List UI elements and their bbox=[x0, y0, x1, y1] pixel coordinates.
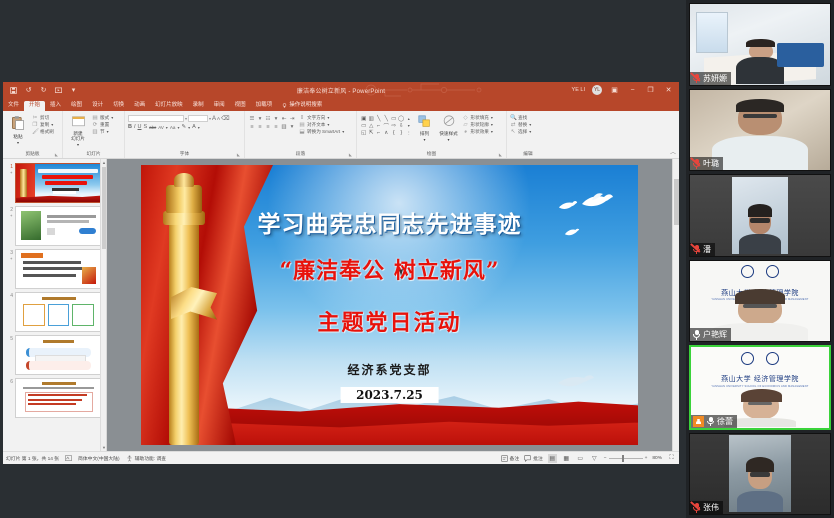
ribbon-display-options-icon[interactable]: ▣ bbox=[609, 87, 620, 94]
thumb-number-5: 5 bbox=[10, 336, 13, 342]
ribbon-group-drawing: ▣▥╲╲▭◯▴ ▭△⌐⌒⇨⇩▾ ◱⇱⌐∧{}⋮ 排列 ▾ bbox=[357, 111, 507, 158]
canvas-scroll-thumb[interactable] bbox=[674, 179, 679, 225]
ribbon-group-clipboard: 粘贴 ▾ ✂剪切 ❐复制▾ 🖌格式刷 剪贴板◣ bbox=[3, 111, 63, 158]
text-shadow-button[interactable]: S bbox=[144, 124, 148, 131]
thumb-preview-5[interactable] bbox=[15, 335, 102, 375]
increase-indent-button[interactable]: ⇥ bbox=[288, 115, 296, 122]
thumb-number-6: 6 bbox=[10, 379, 13, 385]
university-seal-icon-1 bbox=[741, 265, 754, 278]
animation-star-icon: ✦ bbox=[10, 170, 13, 176]
slide-counter: 幻灯片 第 1 张，共 14 张 bbox=[6, 455, 59, 462]
shape-outline-label: 形状轮廓 bbox=[471, 122, 489, 128]
thumb-preview-4[interactable] bbox=[15, 292, 102, 332]
participant-video-rail[interactable]: 苏妍嫄 叶璐 潘 bbox=[686, 0, 834, 518]
paste-icon bbox=[10, 115, 26, 133]
minimize-button[interactable]: − bbox=[627, 87, 638, 94]
tell-me-box[interactable]: 操作说明搜索 bbox=[277, 101, 327, 111]
notes-button[interactable]: 备注 bbox=[501, 455, 520, 462]
drawing-group-label: 绘图◣ bbox=[360, 151, 503, 158]
align-center-button[interactable]: ≡ bbox=[256, 123, 264, 130]
numbering-dropdown-icon[interactable]: ▾ bbox=[272, 115, 280, 122]
cut-button[interactable]: ✂剪切 bbox=[32, 115, 54, 121]
text-direction-icon: ⇕ bbox=[299, 115, 305, 121]
clear-formatting-button[interactable]: ⌫ bbox=[221, 115, 229, 122]
layout-icon: ▤ bbox=[92, 115, 98, 121]
editing-group-label: 编辑 bbox=[510, 151, 546, 158]
slide-date: 2023.7.25 bbox=[356, 388, 423, 402]
spellcheck-icon[interactable] bbox=[65, 455, 72, 462]
slide-thumbnail-2[interactable]: 2✦ bbox=[3, 206, 106, 249]
start-slideshow-icon[interactable] bbox=[54, 86, 63, 95]
italic-button[interactable]: I bbox=[134, 124, 136, 131]
participant-name-bar-4: 户艳辉 bbox=[690, 328, 731, 341]
align-text-label: 对齐文本 bbox=[307, 122, 325, 128]
ribbon-body: 粘贴 ▾ ✂剪切 ❐复制▾ 🖌格式刷 剪贴板◣ bbox=[3, 111, 679, 159]
font-color-button[interactable]: A bbox=[192, 124, 196, 131]
view-normal-button[interactable]: ▤ bbox=[548, 454, 557, 463]
restore-button[interactable]: ❐ bbox=[645, 87, 656, 94]
shape-effects-label: 形状效果 bbox=[471, 129, 489, 135]
canvas-scrollbar[interactable] bbox=[672, 159, 679, 451]
animation-star-icon: ✦ bbox=[10, 213, 13, 219]
participant-name-bar-3: 潘 bbox=[690, 243, 715, 256]
ribbon-group-font: ▾ ▾ A A ⌫ B I U S abc AV ▾ bbox=[125, 111, 245, 158]
zoom-knob[interactable] bbox=[622, 455, 624, 462]
participant-name-bar-5: 徐蕾 bbox=[691, 415, 737, 428]
tab-view[interactable]: 视图 bbox=[230, 101, 251, 111]
tab-file[interactable]: 文件 bbox=[3, 101, 24, 111]
backdrop-university-subtitle: YANSHAN UNIVERSITY SCHOOL OF ECONOMICS A… bbox=[691, 385, 829, 388]
underline-button[interactable]: U bbox=[138, 124, 142, 131]
paragraph-group-label: 段落◣ bbox=[248, 151, 353, 158]
copy-label: 复制 bbox=[40, 122, 49, 128]
font-size-input[interactable] bbox=[188, 115, 208, 122]
section-button[interactable]: ▥节▾ bbox=[92, 129, 113, 135]
participant-name-bar-1: 苏妍嫄 bbox=[690, 72, 731, 85]
reset-button[interactable]: ⟳重置 bbox=[92, 122, 113, 128]
thumbnail-scrollbar[interactable]: ▲ ▼ bbox=[100, 159, 106, 451]
reset-label: 重置 bbox=[100, 122, 109, 128]
section-label: 节 bbox=[100, 129, 105, 135]
copy-icon: ❐ bbox=[32, 122, 38, 128]
zoom-level[interactable]: 80% bbox=[652, 456, 662, 461]
slide-thumbnail-pane[interactable]: 1✦ 2✦ bbox=[3, 159, 107, 451]
host-badge-icon bbox=[693, 416, 704, 427]
comment-icon bbox=[524, 455, 531, 462]
quick-styles-label: 快速样式 bbox=[439, 131, 457, 136]
ribbon-group-editing: 🔍查找 ⇄替换▾ ↖选择▾ 编辑 bbox=[507, 111, 549, 158]
view-slide-sorter-button[interactable]: ▦ bbox=[562, 454, 571, 463]
slide-thumbnail-6[interactable]: 6 bbox=[3, 378, 106, 421]
mic-muted-icon[interactable] bbox=[692, 73, 701, 84]
shapes-gallery[interactable]: ▣▥╲╲▭◯▴ ▭△⌐⌒⇨⇩▾ ◱⇱⌐∧{}⋮ bbox=[360, 115, 413, 136]
ribbon-group-paragraph: ☰▾ ☷▾ ⇤⇥ ≡≡ ≡≡ ▥▾ ⇕文字方向▾ ▤对齐文本▾ ⬓ bbox=[245, 111, 357, 158]
participant-tile-2[interactable]: 叶璐 bbox=[689, 89, 831, 172]
notes-icon bbox=[501, 455, 508, 462]
tab-animations[interactable]: 动画 bbox=[129, 101, 150, 111]
powerpoint-window: ↺ ↻ ▾ 廉洁奉公树立新风 - PowerPoint YE LI YL ▣ bbox=[3, 82, 679, 464]
decrease-font-size-button[interactable]: A bbox=[217, 116, 220, 121]
slide-canvas-area[interactable]: 学习曲宪忠同志先进事迹 “廉洁奉公 树立新风” 主题党日活动 经济系党支部 20… bbox=[107, 159, 672, 451]
fit-to-window-button[interactable]: ⛶ bbox=[667, 454, 676, 463]
drawing-dialog-launcher[interactable]: ◣ bbox=[499, 152, 502, 157]
format-painter-button[interactable]: 🖌格式刷 bbox=[32, 129, 54, 135]
mic-muted-icon[interactable] bbox=[692, 502, 701, 513]
font-dialog-launcher[interactable]: ◣ bbox=[237, 152, 240, 157]
shape-effects-button[interactable]: ◕形状效果▾ bbox=[463, 129, 493, 135]
decrease-indent-button[interactable]: ⇤ bbox=[280, 115, 288, 122]
cut-label: 剪切 bbox=[40, 115, 49, 121]
thumb-preview-6[interactable] bbox=[15, 378, 102, 418]
tell-me-label: 操作说明搜索 bbox=[289, 103, 322, 109]
format-painter-label: 格式刷 bbox=[40, 129, 54, 135]
arrange-icon bbox=[418, 115, 431, 130]
replace-button[interactable]: ⇄替换▾ bbox=[510, 122, 531, 128]
participant-tile-5[interactable]: 燕山大学 经济管理学院 YANSHAN UNIVERSITY SCHOOL OF… bbox=[689, 345, 831, 430]
customize-qat-icon[interactable]: ▾ bbox=[69, 86, 78, 95]
section-icon: ▥ bbox=[92, 129, 98, 135]
scissors-icon: ✂ bbox=[32, 115, 38, 121]
animation-star-icon: ✦ bbox=[10, 256, 13, 262]
participant-tile-1[interactable]: 苏妍嫄 bbox=[689, 3, 831, 86]
lightbulb-icon bbox=[282, 103, 287, 108]
zoom-out-button[interactable]: − bbox=[604, 456, 607, 461]
shared-screen-region: ↺ ↻ ▾ 廉洁奉公树立新风 - PowerPoint YE LI YL ▣ bbox=[0, 0, 686, 518]
quick-access-toolbar[interactable]: ↺ ↻ ▾ bbox=[3, 86, 78, 95]
zoom-track[interactable] bbox=[609, 458, 643, 459]
participant-tile-4[interactable]: 燕山大学 经济管理学院 YANSHAN UNIVERSITY SCHOOL OF… bbox=[689, 260, 831, 343]
participant-name-6: 张伟 bbox=[703, 502, 719, 513]
strikethrough-button[interactable]: abc bbox=[149, 124, 156, 131]
change-case-button[interactable]: Aa bbox=[170, 124, 176, 131]
participant-name-2: 叶璐 bbox=[703, 158, 719, 169]
participant-tile-6[interactable]: 张伟 bbox=[689, 433, 831, 516]
university-seal-icon-2 bbox=[766, 265, 779, 278]
arrange-button[interactable]: 排列 ▾ bbox=[415, 113, 435, 142]
participant-name-bar-2: 叶璐 bbox=[690, 157, 723, 170]
text-direction-label: 文字方向 bbox=[307, 115, 325, 121]
tab-slideshow[interactable]: 幻灯片放映 bbox=[150, 101, 188, 111]
smartart-icon: ⬓ bbox=[299, 129, 305, 135]
backdrop-university-name: 燕山大学 经济管理学院 bbox=[691, 374, 829, 384]
participant-name-bar-6: 张伟 bbox=[690, 501, 723, 514]
replace-label: 替换 bbox=[518, 122, 527, 128]
clipboard-group-label: 剪贴板◣ bbox=[6, 151, 59, 158]
participant-name-5: 徐蕾 bbox=[717, 416, 733, 427]
accessibility-icon bbox=[126, 455, 133, 462]
font-name-input[interactable] bbox=[128, 115, 184, 122]
align-right-button[interactable]: ≡ bbox=[264, 123, 272, 130]
participant-name-3: 潘 bbox=[703, 244, 711, 255]
layout-label: 版式 bbox=[100, 115, 109, 121]
titlebar-decoration bbox=[355, 82, 515, 98]
arrange-label: 排列 bbox=[420, 131, 429, 136]
mic-icon[interactable] bbox=[692, 329, 701, 340]
convert-smartart-label: 转换为 SmartArt bbox=[307, 129, 340, 135]
new-slide-icon bbox=[71, 115, 86, 131]
copy-button[interactable]: ❐复制▾ bbox=[32, 122, 54, 128]
bullets-button[interactable]: ☰ bbox=[248, 115, 256, 122]
align-left-button[interactable]: ≡ bbox=[248, 123, 256, 130]
reset-icon: ⟳ bbox=[92, 122, 98, 128]
align-text-button[interactable]: ▤对齐文本▾ bbox=[299, 122, 344, 128]
redo-icon[interactable]: ↻ bbox=[39, 86, 48, 95]
slide-title-line1[interactable]: 学习曲宪忠同志先进事迹 bbox=[141, 205, 638, 239]
account-name[interactable]: YE LI bbox=[572, 87, 585, 93]
university-seal-icon-2 bbox=[766, 352, 779, 365]
thumbnail-scroll-thumb[interactable] bbox=[102, 167, 106, 249]
paintbrush-icon: 🖌 bbox=[32, 129, 38, 135]
undo-icon[interactable]: ↺ bbox=[24, 86, 33, 95]
bold-button[interactable]: B bbox=[128, 124, 132, 131]
tab-insert[interactable]: 插入 bbox=[45, 101, 66, 111]
tab-draw[interactable]: 绘图 bbox=[66, 101, 87, 111]
language-indicator[interactable]: 简体中文(中国大陆) bbox=[78, 455, 120, 462]
justify-button[interactable]: ≡ bbox=[272, 123, 280, 130]
increase-font-size-button[interactable]: A bbox=[212, 116, 216, 122]
new-slide-button[interactable]: 新建幻灯片 ▾ bbox=[66, 113, 90, 147]
save-icon[interactable] bbox=[9, 86, 18, 95]
paste-dropdown-icon[interactable]: ▾ bbox=[17, 140, 19, 145]
tab-review[interactable]: 审阅 bbox=[209, 101, 230, 111]
mic-muted-icon[interactable] bbox=[692, 158, 701, 169]
shape-fill-label: 形状填充 bbox=[471, 115, 489, 121]
new-slide-dropdown-icon[interactable]: ▾ bbox=[77, 142, 79, 147]
shape-outline-icon: ▱ bbox=[463, 122, 469, 128]
comments-button[interactable]: 批注 bbox=[524, 455, 543, 462]
tab-design[interactable]: 设计 bbox=[87, 101, 108, 111]
thumb-preview-2[interactable] bbox=[15, 206, 102, 246]
layout-button[interactable]: ▤版式▾ bbox=[92, 115, 113, 121]
participant-name-4: 户艳辉 bbox=[703, 329, 727, 340]
shape-fill-icon: ◇ bbox=[463, 115, 469, 121]
slide-title-line3[interactable]: 主题党日活动 bbox=[141, 305, 638, 337]
find-button[interactable]: 🔍查找 bbox=[510, 115, 531, 121]
paste-label: 粘贴 bbox=[13, 134, 22, 139]
select-button[interactable]: ↖选择▾ bbox=[510, 129, 531, 135]
ribbon-group-slides: 新建幻灯片 ▾ ▤版式▾ ⟳重置 ▥节▾ 幻灯片 bbox=[63, 111, 125, 158]
bullets-dropdown-icon[interactable]: ▾ bbox=[256, 115, 264, 122]
tab-record[interactable]: 录制 bbox=[188, 101, 209, 111]
columns-button[interactable]: ▥ bbox=[280, 123, 288, 130]
text-direction-button[interactable]: ⇕文字方向▾ bbox=[299, 115, 344, 121]
collapse-ribbon-button[interactable]: ︿ bbox=[670, 147, 676, 156]
font-group-label: 字体◣ bbox=[128, 151, 241, 158]
status-bar: 幻灯片 第 1 张，共 14 张 简体中文(中国大陆) 辅助功能: 调查 备注 … bbox=[3, 451, 679, 464]
tab-home[interactable]: 开始 bbox=[24, 101, 45, 111]
clipboard-dialog-launcher[interactable]: ◣ bbox=[55, 152, 58, 157]
work-area: 1✦ 2✦ bbox=[3, 159, 679, 451]
thumb-number-4: 4 bbox=[10, 293, 13, 299]
view-reading-button[interactable]: ▭ bbox=[576, 454, 585, 463]
search-icon: 🔍 bbox=[510, 115, 516, 121]
shape-effects-icon: ◕ bbox=[463, 129, 469, 135]
replace-icon: ⇄ bbox=[510, 122, 516, 128]
thumb-preview-3[interactable] bbox=[15, 249, 102, 289]
quick-styles-button[interactable]: 快速样式 ▾ bbox=[437, 113, 461, 142]
avatar[interactable]: YL bbox=[592, 85, 602, 95]
pointer-icon: ↖ bbox=[510, 129, 516, 135]
participant-tile-3[interactable]: 潘 bbox=[689, 174, 831, 257]
quick-styles-icon bbox=[442, 115, 456, 130]
align-text-icon: ▤ bbox=[299, 122, 305, 128]
paste-button[interactable]: 粘贴 ▾ bbox=[6, 113, 30, 145]
character-spacing-button[interactable]: AV bbox=[158, 124, 164, 131]
mic-muted-icon[interactable] bbox=[692, 244, 701, 255]
slide-thumbnail-4[interactable]: 4 bbox=[3, 292, 106, 335]
close-button[interactable]: ✕ bbox=[663, 87, 674, 94]
slide-date-box[interactable]: 2023.7.25 bbox=[340, 387, 439, 403]
mic-icon[interactable] bbox=[706, 416, 715, 427]
view-slideshow-button[interactable]: ▽ bbox=[590, 454, 599, 463]
zoom-in-button[interactable]: + bbox=[645, 456, 648, 461]
slide-editor[interactable]: 学习曲宪忠同志先进事迹 “廉洁奉公 树立新风” 主题党日活动 经济系党支部 20… bbox=[141, 165, 638, 445]
accessibility-indicator[interactable]: 辅助功能: 调查 bbox=[126, 455, 166, 462]
tab-transitions[interactable]: 切换 bbox=[108, 101, 129, 111]
slide-thumbnail-3[interactable]: 3✦ bbox=[3, 249, 106, 292]
title-bar: ↺ ↻ ▾ 廉洁奉公树立新风 - PowerPoint YE LI YL ▣ bbox=[3, 82, 679, 98]
slide-thumbnail-5[interactable]: 5 bbox=[3, 335, 106, 378]
columns-dropdown-icon[interactable]: ▾ bbox=[288, 123, 296, 130]
slide-title-line2[interactable]: “廉洁奉公 树立新风” bbox=[141, 253, 638, 285]
convert-smartart-button[interactable]: ⬓转换为 SmartArt▾ bbox=[299, 129, 344, 135]
zoom-slider[interactable]: − + bbox=[604, 456, 648, 461]
university-seal-icon-1 bbox=[741, 352, 754, 365]
shape-outline-button[interactable]: ▱形状轮廓▾ bbox=[463, 122, 493, 128]
tab-addins[interactable]: 加载项 bbox=[251, 101, 278, 111]
slides-group-label: 幻灯片 bbox=[66, 151, 121, 158]
university-seals bbox=[690, 265, 830, 278]
numbering-button[interactable]: ☷ bbox=[264, 115, 272, 122]
slide-organization[interactable]: 经济系党支部 bbox=[141, 361, 638, 378]
select-label: 选择 bbox=[518, 129, 527, 135]
find-label: 查找 bbox=[518, 115, 527, 121]
new-slide-label: 新建幻灯片 bbox=[71, 132, 85, 141]
participant-name-1: 苏妍嫄 bbox=[703, 73, 727, 84]
ribbon-tabs[interactable]: 文件 开始 插入 绘图 设计 切换 动画 幻灯片放映 录制 审阅 视图 加载项 … bbox=[3, 98, 679, 111]
text-highlight-button[interactable]: ✎ bbox=[181, 124, 186, 131]
paragraph-dialog-launcher[interactable]: ◣ bbox=[349, 152, 352, 157]
shape-fill-button[interactable]: ◇形状填充▾ bbox=[463, 115, 493, 121]
university-seals bbox=[691, 352, 829, 365]
thumb-preview-1[interactable] bbox=[15, 163, 102, 203]
slide-thumbnail-1[interactable]: 1✦ bbox=[3, 163, 106, 206]
